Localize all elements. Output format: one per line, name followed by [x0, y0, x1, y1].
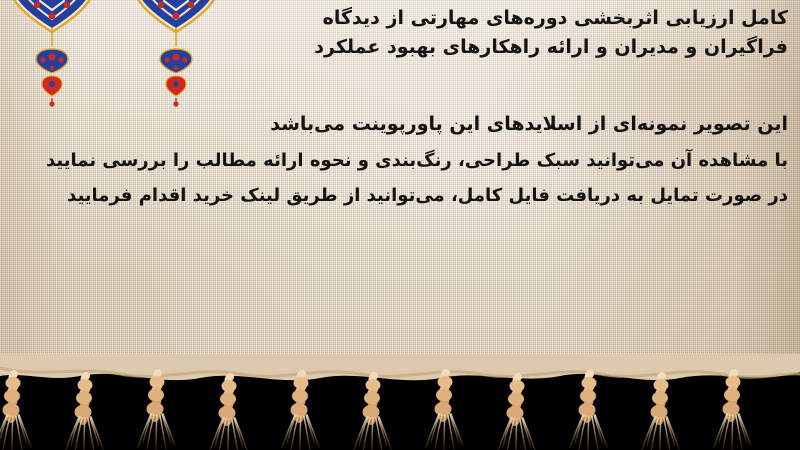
carpet-fringe: [0, 354, 800, 450]
slide-body: این تصویر نمونه‌ای از اسلایدهای این پاور…: [4, 112, 788, 207]
slide-preview: کامل ارزیابی اثربخشی دوره‌های مهارتی از …: [0, 0, 800, 450]
body-line-1: این تصویر نمونه‌ای از اسلایدهای این پاور…: [4, 112, 788, 149]
title-line-1: کامل ارزیابی اثربخشی دوره‌های مهارتی از …: [228, 4, 788, 33]
slide-title: کامل ارزیابی اثربخشی دوره‌های مهارتی از …: [228, 4, 788, 62]
title-line-2: فراگیران و مدیران و ارائه راهکارهای بهبو…: [228, 33, 788, 62]
fringe-tassels-icon: [0, 354, 800, 450]
persian-carpet-medallion-icon: [0, 0, 250, 110]
ornament-group: [0, 0, 250, 110]
body-line-2: با مشاهده آن می‌توانید سبک طراحی، رنگ‌بن…: [4, 149, 788, 184]
body-line-3: در صورت تمایل به دریافت فایل کامل، می‌تو…: [4, 184, 788, 207]
